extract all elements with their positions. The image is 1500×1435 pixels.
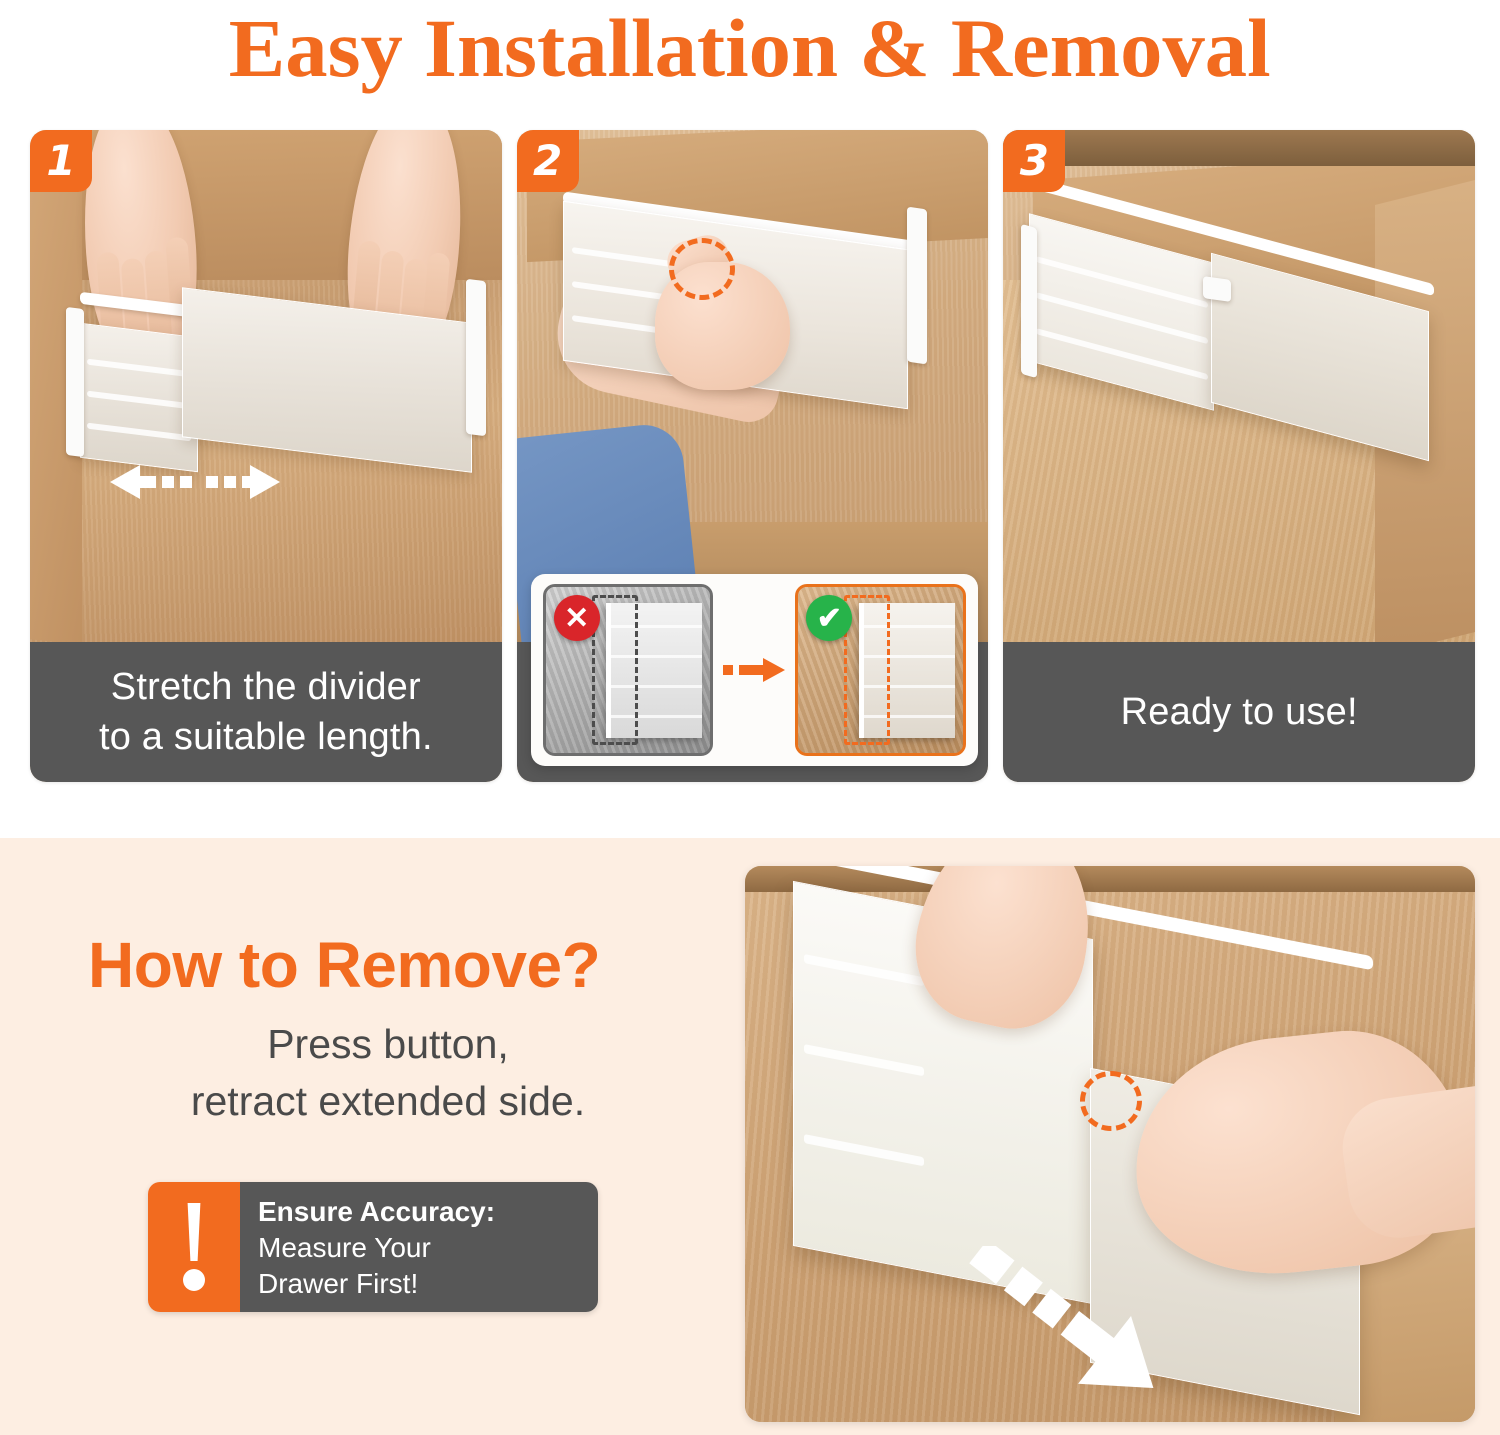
removal-photo xyxy=(745,866,1475,1422)
removal-subtitle-line2: retract extended side. xyxy=(118,1073,658,1130)
divider-end-cap-right xyxy=(466,279,486,436)
infographic-page: Easy Installation & Removal xyxy=(0,0,1500,1435)
double-arrow-icon xyxy=(110,460,280,506)
step-number-badge-1: 1 xyxy=(30,130,92,192)
step-2-photo xyxy=(517,130,989,642)
step-number-3: 3 xyxy=(1020,140,1049,182)
step-number-2: 2 xyxy=(533,140,562,182)
divider-inner-section xyxy=(80,323,198,472)
check-icon: ✔ xyxy=(806,595,852,641)
divider-lock-latch xyxy=(1203,276,1231,302)
step-number-badge-2: 2 xyxy=(517,130,579,192)
step-1-caption-line2: to a suitable length. xyxy=(99,712,433,762)
comparison-inset: ✕ xyxy=(531,574,978,766)
step-3-caption: Ready to use! xyxy=(1003,642,1475,782)
release-button-highlight xyxy=(1080,1071,1142,1131)
removal-subtitle: Press button, retract extended side. xyxy=(118,1016,658,1130)
exclamation-dot-icon xyxy=(183,1269,205,1291)
incorrect-example: ✕ xyxy=(543,584,713,756)
warning-icon-block xyxy=(148,1182,240,1312)
exclamation-icon xyxy=(184,1203,204,1261)
step-number-1: 1 xyxy=(46,140,75,182)
step-1-photo xyxy=(30,130,502,642)
header: Easy Installation & Removal xyxy=(0,0,1500,96)
removal-subtitle-line1: Press button, xyxy=(118,1016,658,1073)
divider-end-cap-left xyxy=(1021,224,1037,378)
right-arrow-icon xyxy=(723,657,785,683)
inset-arrow xyxy=(713,657,795,683)
page-title: Easy Installation & Removal xyxy=(229,5,1271,91)
accuracy-heading: Ensure Accuracy: xyxy=(258,1196,495,1227)
accuracy-badge: Ensure Accuracy: Measure Your Drawer Fir… xyxy=(148,1182,598,1312)
accuracy-text-block: Ensure Accuracy: Measure Your Drawer Fir… xyxy=(240,1182,598,1312)
correct-example: ✔ xyxy=(795,584,965,756)
drawer-top-edge xyxy=(1003,130,1475,166)
retract-arrow xyxy=(960,1246,1190,1422)
step-number-badge-3: 3 xyxy=(1003,130,1065,192)
cross-icon: ✕ xyxy=(554,595,600,641)
installation-steps: Stretch the divider to a suitable length… xyxy=(30,130,1475,782)
down-right-arrow-icon xyxy=(960,1246,1190,1422)
removal-title: How to Remove? xyxy=(88,928,600,1002)
step-1-caption: Stretch the divider to a suitable length… xyxy=(30,642,502,782)
accuracy-line3: Drawer First! xyxy=(258,1266,598,1302)
step-panel-1: Stretch the divider to a suitable length… xyxy=(30,130,502,782)
step-3-caption-line1: Ready to use! xyxy=(1121,687,1358,737)
drawer-top-edge xyxy=(745,866,1475,892)
divider-end-cap xyxy=(907,207,927,365)
accuracy-line2: Measure Your xyxy=(258,1230,598,1266)
step-panel-3: Ready to use! 3 xyxy=(1003,130,1475,782)
step-3-photo xyxy=(1003,130,1475,642)
lock-highlight-circle xyxy=(669,238,735,300)
stretch-arrow xyxy=(110,460,270,500)
step-1-caption-line1: Stretch the divider xyxy=(111,662,421,712)
step-panel-2: ✕ xyxy=(517,130,989,782)
divider-end-cap-left xyxy=(66,307,84,457)
